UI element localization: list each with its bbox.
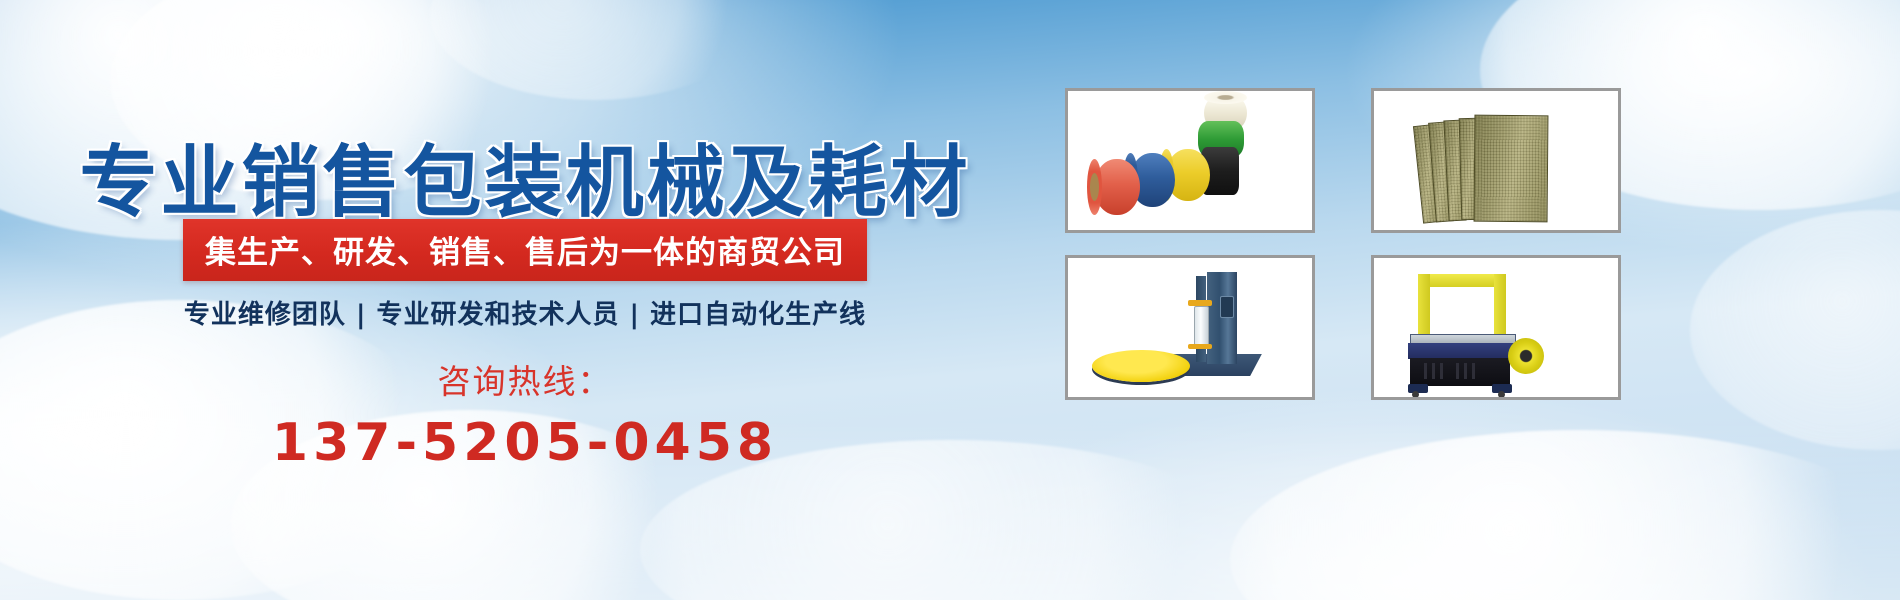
sack-front [1474,115,1549,223]
wrapper-carriage-top [1188,300,1212,306]
banner-subtitle: 专业维修团队 | 专业研发和技术人员 | 进口自动化生产线 [0,294,1050,331]
wrapper-film-roll [1194,306,1209,348]
wrapper-turntable [1092,350,1190,382]
product-photo-strapping-machine[interactable] [1371,255,1621,400]
machine-vent [1424,363,1427,379]
banner-text-column: 专业销售包装机械及耗材 集生产、研发、销售、售后为一体的商贸公司 专业维修团队 … [0,0,1050,600]
promotional-banner: 专业销售包装机械及耗材 集生产、研发、销售、售后为一体的商贸公司 专业维修团队 … [0,0,1900,600]
machine-arch-left [1418,274,1430,342]
banner-headline: 专业销售包装机械及耗材 [0,120,1050,232]
machine-caster [1412,391,1419,398]
hotline-label: 咨询热线： [0,355,1050,403]
wrapper-carriage-bottom [1188,344,1212,349]
machine-caster [1498,391,1505,398]
product-photo-stretch-wrapper[interactable] [1065,255,1315,400]
woven-sacks-illustration [1374,91,1618,230]
wrapper-tower [1207,272,1237,364]
machine-strap-coil [1508,338,1544,374]
roll-red [1094,159,1140,215]
machine-vent [1464,363,1467,379]
machine-body-upper [1408,343,1516,359]
tagline-red-band: 集生产、研发、销售、售后为一体的商贸公司 [183,219,867,281]
tagline-band-wrapper: 集生产、研发、销售、售后为一体的商贸公司 [0,219,1050,281]
product-photo-woven-sacks[interactable] [1371,88,1621,233]
machine-vent [1432,363,1435,379]
machine-arch-top [1418,274,1506,287]
strapping-rolls-illustration [1068,91,1312,230]
product-photo-grid [1065,88,1660,400]
hotline-phone-number: 137-5205-0458 [0,413,1050,473]
machine-vent [1472,363,1475,379]
machine-arch-right [1494,274,1506,336]
machine-vent [1456,363,1459,379]
stretch-wrapper-illustration [1068,258,1312,397]
machine-vent [1440,363,1443,379]
product-photo-strapping-rolls[interactable] [1065,88,1315,233]
strapping-machine-illustration [1374,258,1618,397]
wrapper-control-panel [1220,296,1234,318]
